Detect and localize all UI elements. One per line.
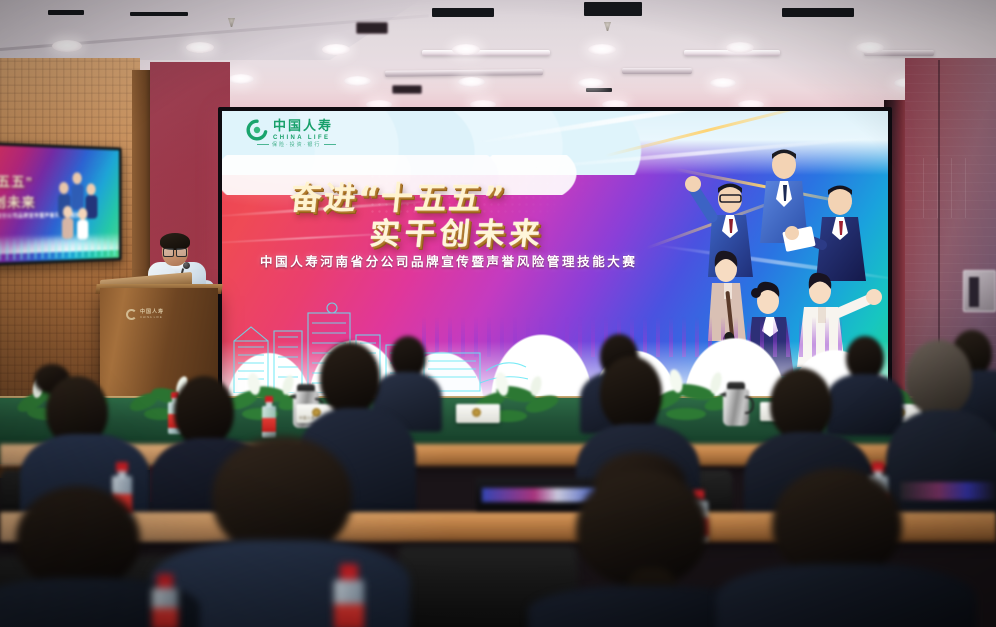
ceiling-vent [586, 88, 612, 92]
poster-headline-line2: 实干创未来 [368, 209, 548, 253]
ceiling-downlight [458, 77, 485, 87]
ceiling-downlight [228, 74, 254, 84]
ceiling-light-strip [622, 68, 692, 74]
audience-head [320, 342, 380, 414]
water-bottle-red-label [334, 564, 364, 627]
conference-hall-photo: 十五五” 干创未来 南省分公司品牌宣传暨声誉风险管理技能大赛 [0, 0, 996, 627]
ceiling-downlight [738, 100, 764, 109]
side-display-monitor: 十五五” 干创未来 南省分公司品牌宣传暨声誉风险管理技能大赛 [0, 142, 122, 266]
side-display-people-illustration [48, 168, 103, 241]
ceiling-light-strip [422, 50, 550, 56]
water-bottle-red-label [152, 574, 178, 627]
ceiling-speaker [356, 22, 388, 34]
ceiling-vent [432, 8, 494, 17]
podium-logo-en: CHINA LIFE [140, 315, 164, 319]
wall-switch-plate[interactable] [963, 270, 996, 312]
ceiling-downlight [470, 100, 496, 109]
ceiling-downlight [602, 100, 628, 109]
podium-ring-icon [126, 309, 137, 320]
ceiling-downlight [452, 44, 480, 55]
speaker-glasses-icon [163, 248, 187, 255]
audience-shoulders [716, 564, 976, 627]
logo-tagline: 保险·投资·银行 [254, 141, 339, 148]
ceiling-vent [48, 10, 84, 15]
ceiling-downlight [344, 76, 371, 86]
audience-head [600, 356, 662, 430]
side-display-headline2: 干创未来 [0, 191, 36, 211]
podium-microphone-head [183, 262, 190, 269]
logo-tagline-text: 保险·投资·银行 [272, 142, 321, 148]
poster-subtitle: 中国人寿河南省分公司品牌宣传暨声誉风险管理技能大赛 [260, 251, 638, 270]
ceiling-downlight [578, 78, 604, 88]
ceiling-downlight [52, 40, 82, 52]
audience-head [906, 340, 972, 416]
fire-sprinkler-icon [604, 22, 611, 31]
logo-name-cn: 中国人寿 [273, 120, 333, 133]
ceiling-vent [130, 12, 188, 16]
audience-head [770, 368, 832, 440]
ceiling-downlight [588, 44, 616, 55]
ceiling-vent [782, 8, 854, 17]
ceiling-downlight [726, 42, 754, 53]
ceiling-downlight [710, 78, 736, 88]
ceiling-speaker [392, 85, 422, 94]
ceiling-downlight [856, 42, 884, 53]
ceiling-downlight [186, 42, 214, 53]
china-life-ring-icon [246, 119, 268, 141]
podium-china-life-logo: 中国人寿 CHINA LIFE [126, 306, 188, 322]
audience-head [772, 468, 902, 578]
audience-member-foreground [716, 468, 976, 627]
china-life-logo: 中国人寿 CHINA LIFE [246, 119, 333, 141]
tissue-box-crest-icon [472, 408, 481, 417]
audience-head [212, 436, 352, 556]
side-display-headline1: 十五五” [0, 170, 33, 191]
logo-name-en: CHINA LIFE [273, 135, 333, 141]
audience-head [16, 486, 140, 590]
ceiling-vent [584, 8, 642, 16]
tissue-box-with-crest [456, 404, 500, 423]
right-wall-panel-lines [923, 158, 971, 218]
ceiling-downlight [322, 44, 350, 55]
ceiling-light-strip [385, 69, 543, 77]
ceiling-downlight [366, 100, 392, 109]
